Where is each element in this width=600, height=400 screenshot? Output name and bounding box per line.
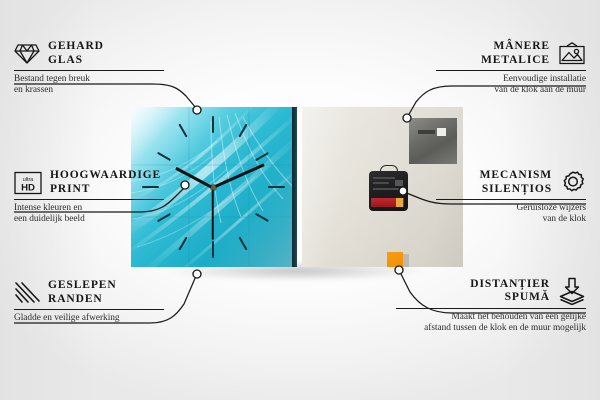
feature-description: Bestand tegen breuk en krassen [14, 74, 164, 97]
diamond-icon [14, 43, 40, 65]
feature-silent-mechanism: MECANISM SILENȚIOS Geruisloze wijzers va… [436, 169, 586, 226]
feature-title: GESLEPEN RANDEN [48, 279, 117, 306]
connector-endpoint-foam-spacer [395, 266, 403, 274]
feature-hd-print: ultra HD HOOGWAARDIGE PRINT Intense kleu… [14, 169, 164, 226]
feature-foam-spacer: DISTANȚIER SPUMĂ Maakt het behouden van … [396, 277, 586, 335]
connector-endpoint-silent-mechanism [399, 187, 407, 195]
feature-title: MECANISM SILENȚIOS [480, 169, 552, 196]
connector-endpoint-ground-edges [193, 270, 201, 278]
feature-description: Eenvoudige installatie van de klok aan d… [436, 74, 586, 97]
infographic-canvas: GEHARD GLAS Bestand tegen breuk en krass… [0, 0, 600, 400]
press-down-pad-icon [558, 277, 586, 305]
feature-title: GEHARD GLAS [48, 40, 104, 67]
feature-title: DISTANȚIER SPUMĂ [470, 278, 550, 305]
feature-rule [436, 70, 586, 71]
feature-tempered-glass: GEHARD GLAS Bestand tegen breuk en krass… [14, 40, 164, 97]
connector-endpoint-tempered-glass [193, 106, 201, 114]
feature-description: Intense kleuren en een duidelijk beeld [14, 203, 164, 226]
feature-description: Geruisloze wijzers van de klok [436, 203, 586, 226]
feature-rule [436, 199, 586, 200]
hd-label: HD [21, 182, 35, 193]
feature-metal-handles: MÂNERE METALICE Eenvoudige installatie v… [436, 40, 586, 97]
feature-rule [396, 308, 586, 309]
bevelled-edge-icon [14, 281, 40, 304]
connector-endpoint-metal-handles [403, 114, 411, 122]
picture-hanger-icon [558, 42, 586, 65]
feature-rule [14, 70, 164, 71]
connector-endpoint-hd-print [181, 181, 189, 189]
feature-rule [14, 309, 164, 310]
ultra-hd-icon: ultra HD [14, 171, 42, 195]
feature-description: Maakt het behouden van een gelijke afsta… [396, 312, 586, 335]
feature-title: MÂNERE METALICE [481, 40, 550, 67]
feature-ground-edges: GESLEPEN RANDEN Gladde en veilige afwerk… [14, 279, 164, 324]
gear-icon [560, 170, 586, 196]
feature-title: HOOGWAARDIGE PRINT [50, 169, 161, 196]
feature-description: Gladde en veilige afwerking [14, 313, 164, 324]
feature-rule [14, 199, 164, 200]
